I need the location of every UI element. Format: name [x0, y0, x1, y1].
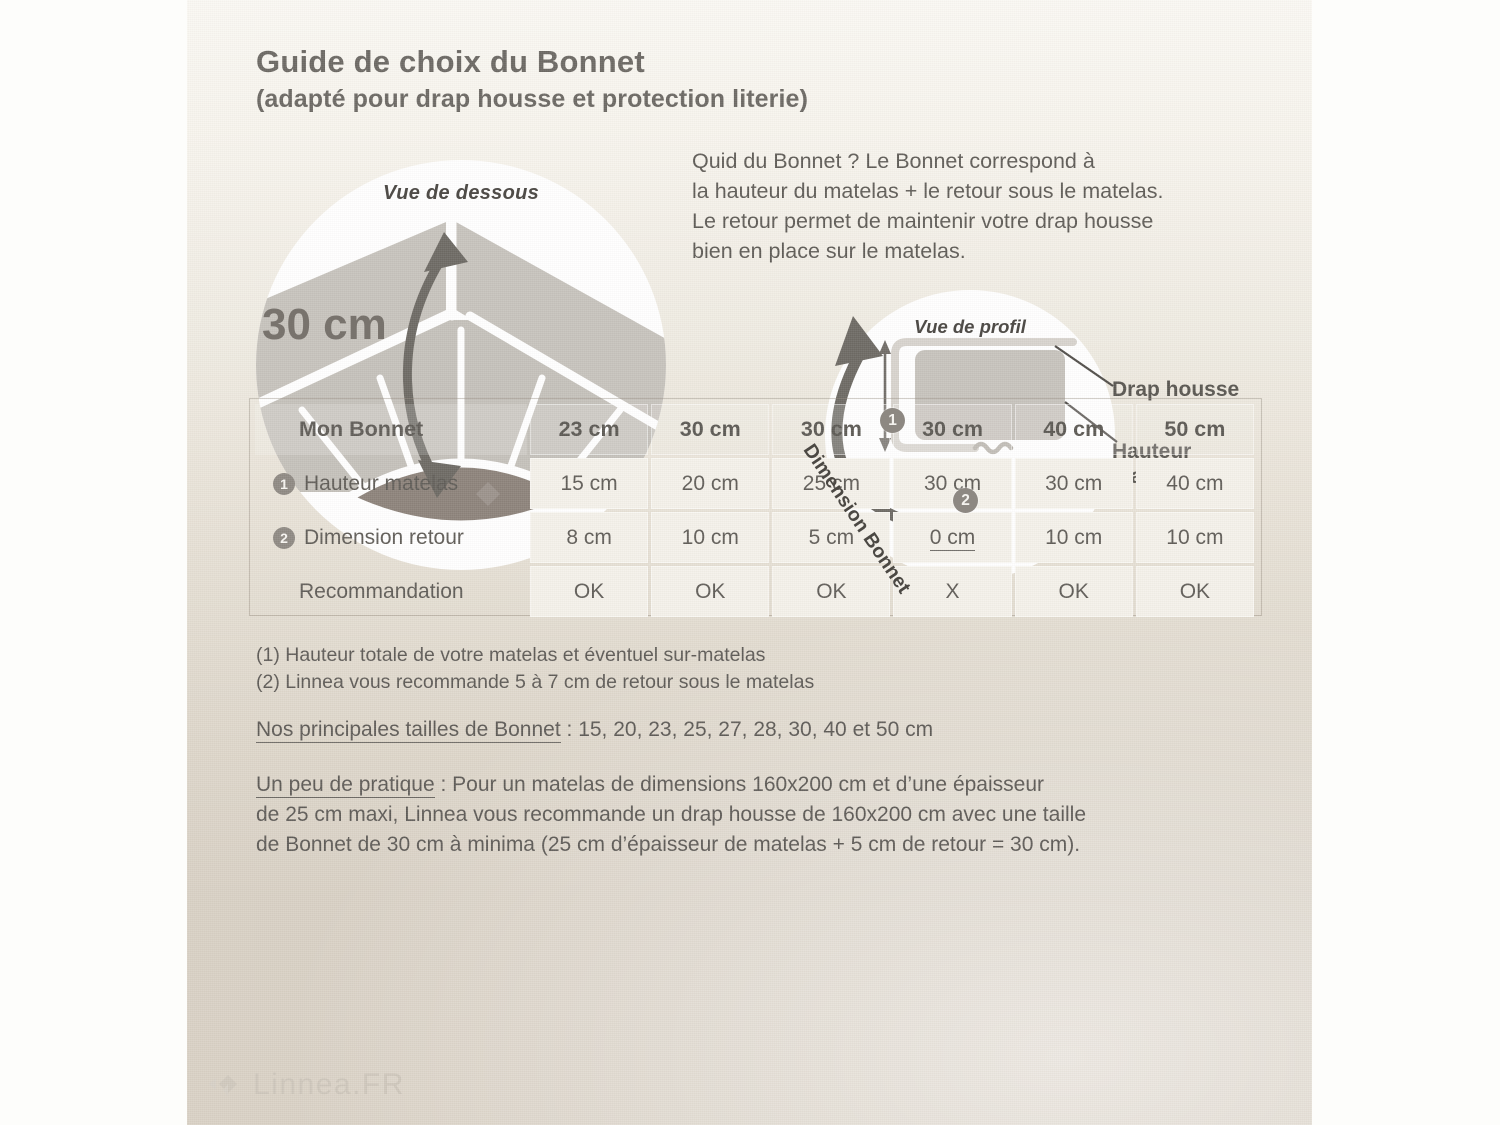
practice-block: Un peu de pratique : Pour un matelas de … [256, 770, 1236, 859]
row-label-mon-bonnet: Mon Bonnet [255, 404, 527, 455]
cell-reco-3: X [893, 566, 1011, 617]
logo-text: Linnea.FR [253, 1068, 405, 1102]
table-row-hauteur-matelas: 1 Hauteur matelas 15 cm 20 cm 25 cm 30 c… [255, 458, 1254, 509]
note-2: (2) Linnea vous recommande 5 à 7 cm de r… [256, 669, 1236, 696]
row-label-text: Mon Bonnet [299, 417, 423, 442]
profile-badge-1: 1 [880, 408, 905, 433]
cell-bonnet-5: 50 cm [1136, 404, 1254, 455]
cell-bonnet-3: 30 cm [893, 404, 1011, 455]
cell-hauteur-5: 40 cm [1136, 458, 1254, 509]
cell-bonnet-4: 40 cm [1015, 404, 1133, 455]
row-label-hauteur-matelas: 1 Hauteur matelas [255, 458, 527, 509]
row-label-text: Recommandation [299, 580, 464, 604]
cell-retour-text: 0 cm [930, 526, 976, 551]
practice-label: Un peu de pratique [256, 773, 435, 798]
practice-line-3: de Bonnet de 30 cm à minima (25 cm d’épa… [256, 830, 1236, 860]
table-row-dimension-retour: 2 Dimension retour 8 cm 10 cm 5 cm 0 cm … [255, 512, 1254, 563]
cell-retour-text: 5 cm [809, 526, 855, 549]
row-label-text: Hauteur matelas [304, 472, 458, 496]
footer-notes: (1) Hauteur totale de votre matelas et é… [256, 642, 1236, 859]
linnea-diamond-icon [207, 1072, 241, 1098]
callout-drap-housse: Drap housse [1112, 378, 1239, 403]
cell-reco-5: OK [1136, 566, 1254, 617]
cell-bonnet-1: 30 cm [651, 404, 769, 455]
sizes-label: Nos principales tailles de Bonnet [256, 718, 561, 743]
sizes-line: Nos principales tailles de Bonnet : 15, … [256, 718, 1236, 742]
cell-reco-0: OK [530, 566, 648, 617]
cell-hauteur-1: 20 cm [651, 458, 769, 509]
note-1: (1) Hauteur totale de votre matelas et é… [256, 642, 1236, 669]
bottom-view-measure-label: 30 cm [262, 300, 387, 350]
cell-retour-text: 8 cm [566, 526, 612, 549]
cell-bonnet-0: 23 cm [530, 404, 648, 455]
intro-paragraph: Quid du Bonnet ? Le Bonnet correspond à … [692, 146, 1272, 266]
profile-view-caption: Vue de profil [865, 316, 1075, 338]
table-row-recommandation: Recommandation OK OK OK X OK OK [255, 566, 1254, 617]
cell-retour-text: 10 cm [1166, 526, 1223, 549]
content-panel: Guide de choix du Bonnet (adapté pour dr… [187, 0, 1312, 1125]
table-row-header: Mon Bonnet 23 cm 30 cm 30 cm 30 cm 40 cm… [255, 404, 1254, 455]
row-badge-2: 2 [273, 527, 295, 549]
profile-badge-2: 2 [953, 488, 978, 513]
cell-reco-2: OK [772, 566, 890, 617]
cell-hauteur-4: 30 cm [1015, 458, 1133, 509]
bottom-view-caption: Vue de dessous [256, 182, 666, 205]
cell-retour-1: 10 cm [651, 512, 769, 563]
intro-line-4: bien en place sur le matelas. [692, 236, 1272, 266]
sizes-value: : 15, 20, 23, 25, 27, 28, 30, 40 et 50 c… [561, 718, 933, 741]
cell-bonnet-2: 30 cm [772, 404, 890, 455]
cell-retour-3: 0 cm [893, 512, 1011, 563]
row-label-dimension-retour: 2 Dimension retour [255, 512, 527, 563]
cell-retour-text: 10 cm [682, 526, 739, 549]
intro-line-1: Quid du Bonnet ? Le Bonnet correspond à [692, 146, 1272, 176]
linnea-logo: Linnea.FR [207, 1068, 405, 1102]
cell-retour-0: 8 cm [530, 512, 648, 563]
row-badge-1: 1 [273, 473, 295, 495]
row-label-text: Dimension retour [304, 526, 464, 550]
title-line-2: (adapté pour drap housse et protection l… [256, 84, 1016, 114]
cell-hauteur-0: 15 cm [530, 458, 648, 509]
intro-line-3: Le retour permet de maintenir votre drap… [692, 206, 1272, 236]
intro-line-2: la hauteur du matelas + le retour sous l… [692, 176, 1272, 206]
cell-reco-1: OK [651, 566, 769, 617]
practice-line-1-text: : Pour un matelas de dimensions 160x200 … [435, 773, 1044, 796]
page-root: Guide de choix du Bonnet (adapté pour dr… [0, 0, 1500, 1125]
practice-line-2: de 25 cm maxi, Linnea vous recommande un… [256, 800, 1236, 830]
cell-reco-4: OK [1015, 566, 1133, 617]
cell-retour-4: 10 cm [1015, 512, 1133, 563]
page-title: Guide de choix du Bonnet (adapté pour dr… [256, 44, 1016, 114]
practice-line-1: Un peu de pratique : Pour un matelas de … [256, 770, 1236, 800]
cell-retour-5: 10 cm [1136, 512, 1254, 563]
row-label-recommandation: Recommandation [255, 566, 527, 617]
bonnet-table: Mon Bonnet 23 cm 30 cm 30 cm 30 cm 40 cm… [252, 401, 1257, 620]
title-line-1: Guide de choix du Bonnet [256, 44, 1016, 81]
cell-retour-text: 10 cm [1045, 526, 1102, 549]
bonnet-table-wrapper: Mon Bonnet 23 cm 30 cm 30 cm 30 cm 40 cm… [252, 401, 1257, 620]
